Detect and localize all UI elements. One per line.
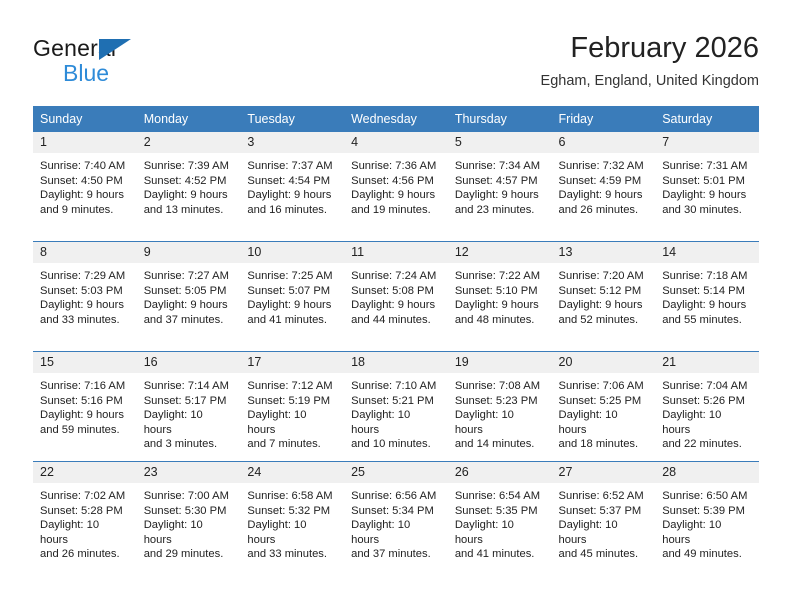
day-number: 8 (33, 242, 137, 263)
weekday-header-thursday: Thursday (448, 106, 552, 132)
sunrise-time: Sunrise: 7:04 AM (662, 379, 751, 394)
day-number: 18 (344, 352, 448, 373)
daylight-duration-line2: and 59 minutes. (40, 423, 129, 438)
day-number: 24 (240, 462, 344, 483)
daylight-duration-line2: and 10 minutes. (351, 437, 440, 452)
sunset-time: Sunset: 5:30 PM (144, 504, 233, 519)
general-blue-logo[interactable]: General Blue (33, 35, 223, 93)
daylight-duration-line2: and 30 minutes. (662, 203, 751, 218)
daylight-duration-line2: and 7 minutes. (247, 437, 336, 452)
calendar-day-cell[interactable]: 13Sunrise: 7:20 AMSunset: 5:12 PMDayligh… (552, 242, 656, 352)
day-number: 10 (240, 242, 344, 263)
calendar-day-cell[interactable]: 20Sunrise: 7:06 AMSunset: 5:25 PMDayligh… (552, 352, 656, 462)
day-details: Sunrise: 7:02 AMSunset: 5:28 PMDaylight:… (33, 483, 137, 562)
calendar-day-cell[interactable]: 10Sunrise: 7:25 AMSunset: 5:07 PMDayligh… (240, 242, 344, 352)
sunrise-time: Sunrise: 7:39 AM (144, 159, 233, 174)
daylight-duration-line2: and 26 minutes. (40, 547, 129, 562)
sunrise-time: Sunrise: 7:10 AM (351, 379, 440, 394)
sunrise-time: Sunrise: 7:34 AM (455, 159, 544, 174)
calendar-day-cell[interactable]: 27Sunrise: 6:52 AMSunset: 5:37 PMDayligh… (552, 462, 656, 572)
sunrise-time: Sunrise: 7:27 AM (144, 269, 233, 284)
daylight-duration-line1: Daylight: 9 hours (455, 298, 544, 313)
day-number: 2 (137, 132, 241, 153)
daylight-duration-line1: Daylight: 9 hours (662, 298, 751, 313)
page-title: February 2026 (541, 30, 759, 66)
daylight-duration-line1: Daylight: 9 hours (40, 298, 129, 313)
day-details: Sunrise: 7:04 AMSunset: 5:26 PMDaylight:… (655, 373, 759, 452)
sunset-time: Sunset: 5:17 PM (144, 394, 233, 409)
calendar-day-cell[interactable]: 26Sunrise: 6:54 AMSunset: 5:35 PMDayligh… (448, 462, 552, 572)
page-header: General Blue February 2026 Egham, Englan… (33, 30, 759, 98)
sunset-time: Sunset: 4:50 PM (40, 174, 129, 189)
weekday-header-monday: Monday (137, 106, 241, 132)
calendar-day-cell[interactable]: 11Sunrise: 7:24 AMSunset: 5:08 PMDayligh… (344, 242, 448, 352)
sunrise-time: Sunrise: 7:06 AM (559, 379, 648, 394)
day-details: Sunrise: 7:29 AMSunset: 5:03 PMDaylight:… (33, 263, 137, 327)
calendar-day-cell[interactable]: 1Sunrise: 7:40 AMSunset: 4:50 PMDaylight… (33, 132, 137, 242)
day-details: Sunrise: 7:08 AMSunset: 5:23 PMDaylight:… (448, 373, 552, 452)
daylight-duration-line1: Daylight: 9 hours (559, 298, 648, 313)
sunrise-time: Sunrise: 7:37 AM (247, 159, 336, 174)
weekday-header-wednesday: Wednesday (344, 106, 448, 132)
calendar-day-cell[interactable]: 2Sunrise: 7:39 AMSunset: 4:52 PMDaylight… (137, 132, 241, 242)
daylight-duration-line2: and 22 minutes. (662, 437, 751, 452)
logo-text-blue: Blue (63, 60, 109, 87)
daylight-duration-line2: and 49 minutes. (662, 547, 751, 562)
day-details: Sunrise: 7:34 AMSunset: 4:57 PMDaylight:… (448, 153, 552, 217)
day-number: 26 (448, 462, 552, 483)
daylight-duration-line1: Daylight: 10 hours (351, 408, 440, 437)
sunset-time: Sunset: 4:52 PM (144, 174, 233, 189)
sunset-time: Sunset: 5:05 PM (144, 284, 233, 299)
daylight-duration-line1: Daylight: 10 hours (559, 408, 648, 437)
calendar-day-cell[interactable]: 15Sunrise: 7:16 AMSunset: 5:16 PMDayligh… (33, 352, 137, 462)
sunset-time: Sunset: 5:21 PM (351, 394, 440, 409)
daylight-duration-line2: and 41 minutes. (247, 313, 336, 328)
day-details: Sunrise: 6:50 AMSunset: 5:39 PMDaylight:… (655, 483, 759, 562)
daylight-duration-line2: and 13 minutes. (144, 203, 233, 218)
calendar-day-cell[interactable]: 17Sunrise: 7:12 AMSunset: 5:19 PMDayligh… (240, 352, 344, 462)
daylight-duration-line2: and 16 minutes. (247, 203, 336, 218)
day-number: 4 (344, 132, 448, 153)
sunset-time: Sunset: 4:59 PM (559, 174, 648, 189)
calendar-body: 1Sunrise: 7:40 AMSunset: 4:50 PMDaylight… (33, 132, 759, 571)
calendar-day-cell[interactable]: 3Sunrise: 7:37 AMSunset: 4:54 PMDaylight… (240, 132, 344, 242)
calendar-page: General Blue February 2026 Egham, Englan… (0, 0, 792, 612)
daylight-duration-line2: and 52 minutes. (559, 313, 648, 328)
sunset-time: Sunset: 5:01 PM (662, 174, 751, 189)
sunset-time: Sunset: 5:39 PM (662, 504, 751, 519)
daylight-duration-line2: and 33 minutes. (247, 547, 336, 562)
daylight-duration-line1: Daylight: 9 hours (40, 408, 129, 423)
calendar-day-cell[interactable]: 4Sunrise: 7:36 AMSunset: 4:56 PMDaylight… (344, 132, 448, 242)
day-details: Sunrise: 7:32 AMSunset: 4:59 PMDaylight:… (552, 153, 656, 217)
weekday-header-row: Sunday Monday Tuesday Wednesday Thursday… (33, 106, 759, 132)
sunrise-time: Sunrise: 7:36 AM (351, 159, 440, 174)
day-number: 1 (33, 132, 137, 153)
day-details: Sunrise: 6:54 AMSunset: 5:35 PMDaylight:… (448, 483, 552, 562)
day-details: Sunrise: 7:16 AMSunset: 5:16 PMDaylight:… (33, 373, 137, 437)
day-details: Sunrise: 7:22 AMSunset: 5:10 PMDaylight:… (448, 263, 552, 327)
calendar-day-cell[interactable]: 12Sunrise: 7:22 AMSunset: 5:10 PMDayligh… (448, 242, 552, 352)
daylight-duration-line2: and 41 minutes. (455, 547, 544, 562)
calendar-day-cell[interactable]: 16Sunrise: 7:14 AMSunset: 5:17 PMDayligh… (137, 352, 241, 462)
day-details: Sunrise: 7:37 AMSunset: 4:54 PMDaylight:… (240, 153, 344, 217)
calendar-day-cell[interactable]: 22Sunrise: 7:02 AMSunset: 5:28 PMDayligh… (33, 462, 137, 572)
day-details: Sunrise: 7:12 AMSunset: 5:19 PMDaylight:… (240, 373, 344, 452)
logo-triangle-icon (99, 39, 131, 60)
sunrise-time: Sunrise: 6:58 AM (247, 489, 336, 504)
day-number: 7 (655, 132, 759, 153)
day-details: Sunrise: 7:40 AMSunset: 4:50 PMDaylight:… (33, 153, 137, 217)
sunrise-sunset-calendar: Sunday Monday Tuesday Wednesday Thursday… (33, 106, 759, 571)
daylight-duration-line1: Daylight: 9 hours (559, 188, 648, 203)
daylight-duration-line1: Daylight: 9 hours (247, 298, 336, 313)
calendar-day-cell[interactable]: 5Sunrise: 7:34 AMSunset: 4:57 PMDaylight… (448, 132, 552, 242)
sunrise-time: Sunrise: 7:40 AM (40, 159, 129, 174)
day-number: 20 (552, 352, 656, 373)
daylight-duration-line1: Daylight: 9 hours (455, 188, 544, 203)
sunset-time: Sunset: 5:35 PM (455, 504, 544, 519)
sunset-time: Sunset: 5:12 PM (559, 284, 648, 299)
day-details: Sunrise: 7:25 AMSunset: 5:07 PMDaylight:… (240, 263, 344, 327)
calendar-week-row: 22Sunrise: 7:02 AMSunset: 5:28 PMDayligh… (33, 462, 759, 572)
daylight-duration-line1: Daylight: 9 hours (351, 298, 440, 313)
daylight-duration-line2: and 14 minutes. (455, 437, 544, 452)
sunrise-time: Sunrise: 6:56 AM (351, 489, 440, 504)
daylight-duration-line1: Daylight: 10 hours (144, 518, 233, 547)
sunset-time: Sunset: 5:25 PM (559, 394, 648, 409)
sunrise-time: Sunrise: 6:52 AM (559, 489, 648, 504)
daylight-duration-line1: Daylight: 9 hours (144, 188, 233, 203)
daylight-duration-line2: and 19 minutes. (351, 203, 440, 218)
day-details: Sunrise: 7:00 AMSunset: 5:30 PMDaylight:… (137, 483, 241, 562)
sunset-time: Sunset: 5:23 PM (455, 394, 544, 409)
sunrise-time: Sunrise: 7:12 AM (247, 379, 336, 394)
day-number: 15 (33, 352, 137, 373)
calendar-week-row: 1Sunrise: 7:40 AMSunset: 4:50 PMDaylight… (33, 132, 759, 242)
day-number: 28 (655, 462, 759, 483)
daylight-duration-line1: Daylight: 10 hours (144, 408, 233, 437)
day-number: 11 (344, 242, 448, 263)
daylight-duration-line1: Daylight: 9 hours (40, 188, 129, 203)
calendar-day-cell[interactable]: 7Sunrise: 7:31 AMSunset: 5:01 PMDaylight… (655, 132, 759, 242)
sunrise-time: Sunrise: 7:32 AM (559, 159, 648, 174)
daylight-duration-line1: Daylight: 9 hours (662, 188, 751, 203)
sunset-time: Sunset: 5:32 PM (247, 504, 336, 519)
day-number: 23 (137, 462, 241, 483)
daylight-duration-line2: and 23 minutes. (455, 203, 544, 218)
daylight-duration-line2: and 55 minutes. (662, 313, 751, 328)
sunrise-time: Sunrise: 7:22 AM (455, 269, 544, 284)
daylight-duration-line2: and 33 minutes. (40, 313, 129, 328)
day-number: 12 (448, 242, 552, 263)
sunset-time: Sunset: 4:56 PM (351, 174, 440, 189)
calendar-day-cell[interactable]: 23Sunrise: 7:00 AMSunset: 5:30 PMDayligh… (137, 462, 241, 572)
day-details: Sunrise: 7:27 AMSunset: 5:05 PMDaylight:… (137, 263, 241, 327)
weekday-header-saturday: Saturday (655, 106, 759, 132)
daylight-duration-line2: and 44 minutes. (351, 313, 440, 328)
location-subtitle: Egham, England, United Kingdom (541, 71, 759, 91)
sunset-time: Sunset: 4:54 PM (247, 174, 336, 189)
sunrise-time: Sunrise: 7:20 AM (559, 269, 648, 284)
calendar-week-row: 15Sunrise: 7:16 AMSunset: 5:16 PMDayligh… (33, 352, 759, 462)
sunset-time: Sunset: 5:07 PM (247, 284, 336, 299)
daylight-duration-line2: and 26 minutes. (559, 203, 648, 218)
daylight-duration-line1: Daylight: 10 hours (662, 408, 751, 437)
day-details: Sunrise: 6:52 AMSunset: 5:37 PMDaylight:… (552, 483, 656, 562)
day-details: Sunrise: 7:10 AMSunset: 5:21 PMDaylight:… (344, 373, 448, 452)
daylight-duration-line1: Daylight: 10 hours (455, 408, 544, 437)
day-number: 5 (448, 132, 552, 153)
sunset-time: Sunset: 5:10 PM (455, 284, 544, 299)
weekday-header-tuesday: Tuesday (240, 106, 344, 132)
calendar-day-cell[interactable]: 8Sunrise: 7:29 AMSunset: 5:03 PMDaylight… (33, 242, 137, 352)
daylight-duration-line1: Daylight: 10 hours (351, 518, 440, 547)
day-details: Sunrise: 7:20 AMSunset: 5:12 PMDaylight:… (552, 263, 656, 327)
sunrise-time: Sunrise: 7:16 AM (40, 379, 129, 394)
day-number: 19 (448, 352, 552, 373)
daylight-duration-line1: Daylight: 10 hours (40, 518, 129, 547)
daylight-duration-line1: Daylight: 9 hours (247, 188, 336, 203)
sunset-time: Sunset: 5:34 PM (351, 504, 440, 519)
calendar-week-row: 8Sunrise: 7:29 AMSunset: 5:03 PMDaylight… (33, 242, 759, 352)
calendar-day-cell[interactable]: 28Sunrise: 6:50 AMSunset: 5:39 PMDayligh… (655, 462, 759, 572)
sunrise-time: Sunrise: 7:02 AM (40, 489, 129, 504)
day-details: Sunrise: 7:06 AMSunset: 5:25 PMDaylight:… (552, 373, 656, 452)
calendar-day-cell[interactable]: 25Sunrise: 6:56 AMSunset: 5:34 PMDayligh… (344, 462, 448, 572)
day-details: Sunrise: 7:31 AMSunset: 5:01 PMDaylight:… (655, 153, 759, 217)
daylight-duration-line1: Daylight: 10 hours (247, 518, 336, 547)
sunrise-time: Sunrise: 6:50 AM (662, 489, 751, 504)
calendar-day-cell[interactable]: 6Sunrise: 7:32 AMSunset: 4:59 PMDaylight… (552, 132, 656, 242)
calendar-day-cell[interactable]: 19Sunrise: 7:08 AMSunset: 5:23 PMDayligh… (448, 352, 552, 462)
calendar-day-cell[interactable]: 18Sunrise: 7:10 AMSunset: 5:21 PMDayligh… (344, 352, 448, 462)
daylight-duration-line1: Daylight: 10 hours (559, 518, 648, 547)
sunrise-time: Sunrise: 7:14 AM (144, 379, 233, 394)
daylight-duration-line2: and 37 minutes. (351, 547, 440, 562)
daylight-duration-line1: Daylight: 9 hours (351, 188, 440, 203)
daylight-duration-line1: Daylight: 10 hours (455, 518, 544, 547)
day-details: Sunrise: 6:58 AMSunset: 5:32 PMDaylight:… (240, 483, 344, 562)
calendar-day-cell[interactable]: 21Sunrise: 7:04 AMSunset: 5:26 PMDayligh… (655, 352, 759, 462)
title-block: February 2026 Egham, England, United Kin… (541, 30, 759, 91)
sunrise-time: Sunrise: 7:08 AM (455, 379, 544, 394)
weekday-header-friday: Friday (552, 106, 656, 132)
sunset-time: Sunset: 5:16 PM (40, 394, 129, 409)
sunset-time: Sunset: 5:37 PM (559, 504, 648, 519)
sunrise-time: Sunrise: 6:54 AM (455, 489, 544, 504)
day-details: Sunrise: 6:56 AMSunset: 5:34 PMDaylight:… (344, 483, 448, 562)
day-number: 21 (655, 352, 759, 373)
day-number: 16 (137, 352, 241, 373)
sunset-time: Sunset: 5:03 PM (40, 284, 129, 299)
daylight-duration-line1: Daylight: 10 hours (247, 408, 336, 437)
day-details: Sunrise: 7:24 AMSunset: 5:08 PMDaylight:… (344, 263, 448, 327)
day-number: 13 (552, 242, 656, 263)
day-details: Sunrise: 7:14 AMSunset: 5:17 PMDaylight:… (137, 373, 241, 452)
day-number: 9 (137, 242, 241, 263)
daylight-duration-line2: and 9 minutes. (40, 203, 129, 218)
day-number: 27 (552, 462, 656, 483)
sunset-time: Sunset: 5:14 PM (662, 284, 751, 299)
sunset-time: Sunset: 5:19 PM (247, 394, 336, 409)
daylight-duration-line1: Daylight: 10 hours (662, 518, 751, 547)
day-details: Sunrise: 7:39 AMSunset: 4:52 PMDaylight:… (137, 153, 241, 217)
day-number: 14 (655, 242, 759, 263)
sunset-time: Sunset: 4:57 PM (455, 174, 544, 189)
sunset-time: Sunset: 5:28 PM (40, 504, 129, 519)
daylight-duration-line2: and 48 minutes. (455, 313, 544, 328)
day-details: Sunrise: 7:36 AMSunset: 4:56 PMDaylight:… (344, 153, 448, 217)
calendar-day-cell[interactable]: 14Sunrise: 7:18 AMSunset: 5:14 PMDayligh… (655, 242, 759, 352)
daylight-duration-line2: and 45 minutes. (559, 547, 648, 562)
day-number: 3 (240, 132, 344, 153)
calendar-day-cell[interactable]: 9Sunrise: 7:27 AMSunset: 5:05 PMDaylight… (137, 242, 241, 352)
daylight-duration-line2: and 18 minutes. (559, 437, 648, 452)
daylight-duration-line2: and 3 minutes. (144, 437, 233, 452)
day-number: 25 (344, 462, 448, 483)
weekday-header-sunday: Sunday (33, 106, 137, 132)
sunrise-time: Sunrise: 7:29 AM (40, 269, 129, 284)
sunrise-time: Sunrise: 7:31 AM (662, 159, 751, 174)
sunset-time: Sunset: 5:26 PM (662, 394, 751, 409)
day-details: Sunrise: 7:18 AMSunset: 5:14 PMDaylight:… (655, 263, 759, 327)
sunrise-time: Sunrise: 7:18 AM (662, 269, 751, 284)
sunset-time: Sunset: 5:08 PM (351, 284, 440, 299)
sunrise-time: Sunrise: 7:25 AM (247, 269, 336, 284)
sunrise-time: Sunrise: 7:24 AM (351, 269, 440, 284)
sunrise-time: Sunrise: 7:00 AM (144, 489, 233, 504)
calendar-day-cell[interactable]: 24Sunrise: 6:58 AMSunset: 5:32 PMDayligh… (240, 462, 344, 572)
day-number: 17 (240, 352, 344, 373)
daylight-duration-line1: Daylight: 9 hours (144, 298, 233, 313)
day-number: 22 (33, 462, 137, 483)
daylight-duration-line2: and 29 minutes. (144, 547, 233, 562)
day-number: 6 (552, 132, 656, 153)
daylight-duration-line2: and 37 minutes. (144, 313, 233, 328)
